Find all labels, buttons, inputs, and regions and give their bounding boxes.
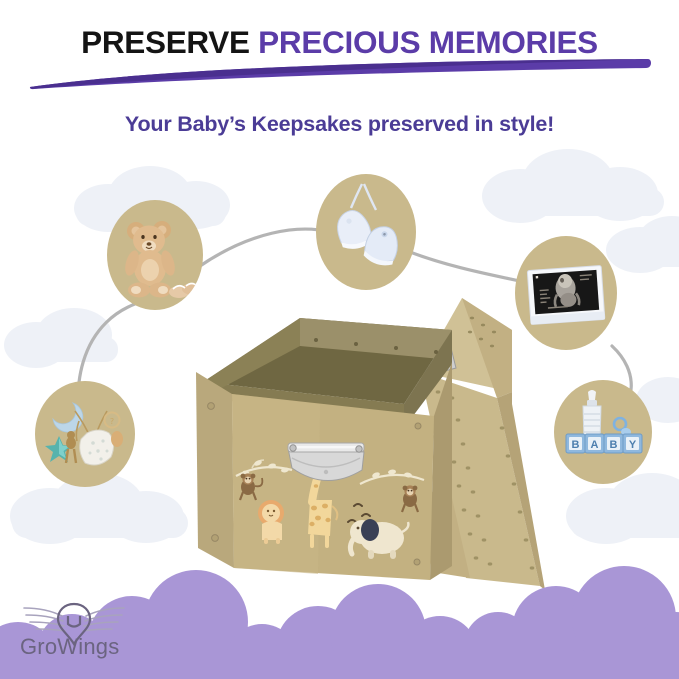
page-subtitle: Your Baby’s Keepsakes preserved in style…	[0, 112, 679, 137]
page-title-part2: PRECIOUS MEMORIES	[258, 24, 598, 60]
page-title: PRESERVE PRECIOUS MEMORIES	[0, 24, 679, 61]
header-block: PRESERVE PRECIOUS MEMORIES Your Baby’s K…	[0, 0, 679, 679]
brand-name: GroWings	[20, 634, 119, 660]
promo-graphic: ?	[0, 0, 679, 679]
purple-underline-swoosh	[28, 58, 653, 90]
brand-logo[interactable]: GroWings	[18, 596, 130, 660]
page-title-part1: PRESERVE	[81, 24, 250, 60]
